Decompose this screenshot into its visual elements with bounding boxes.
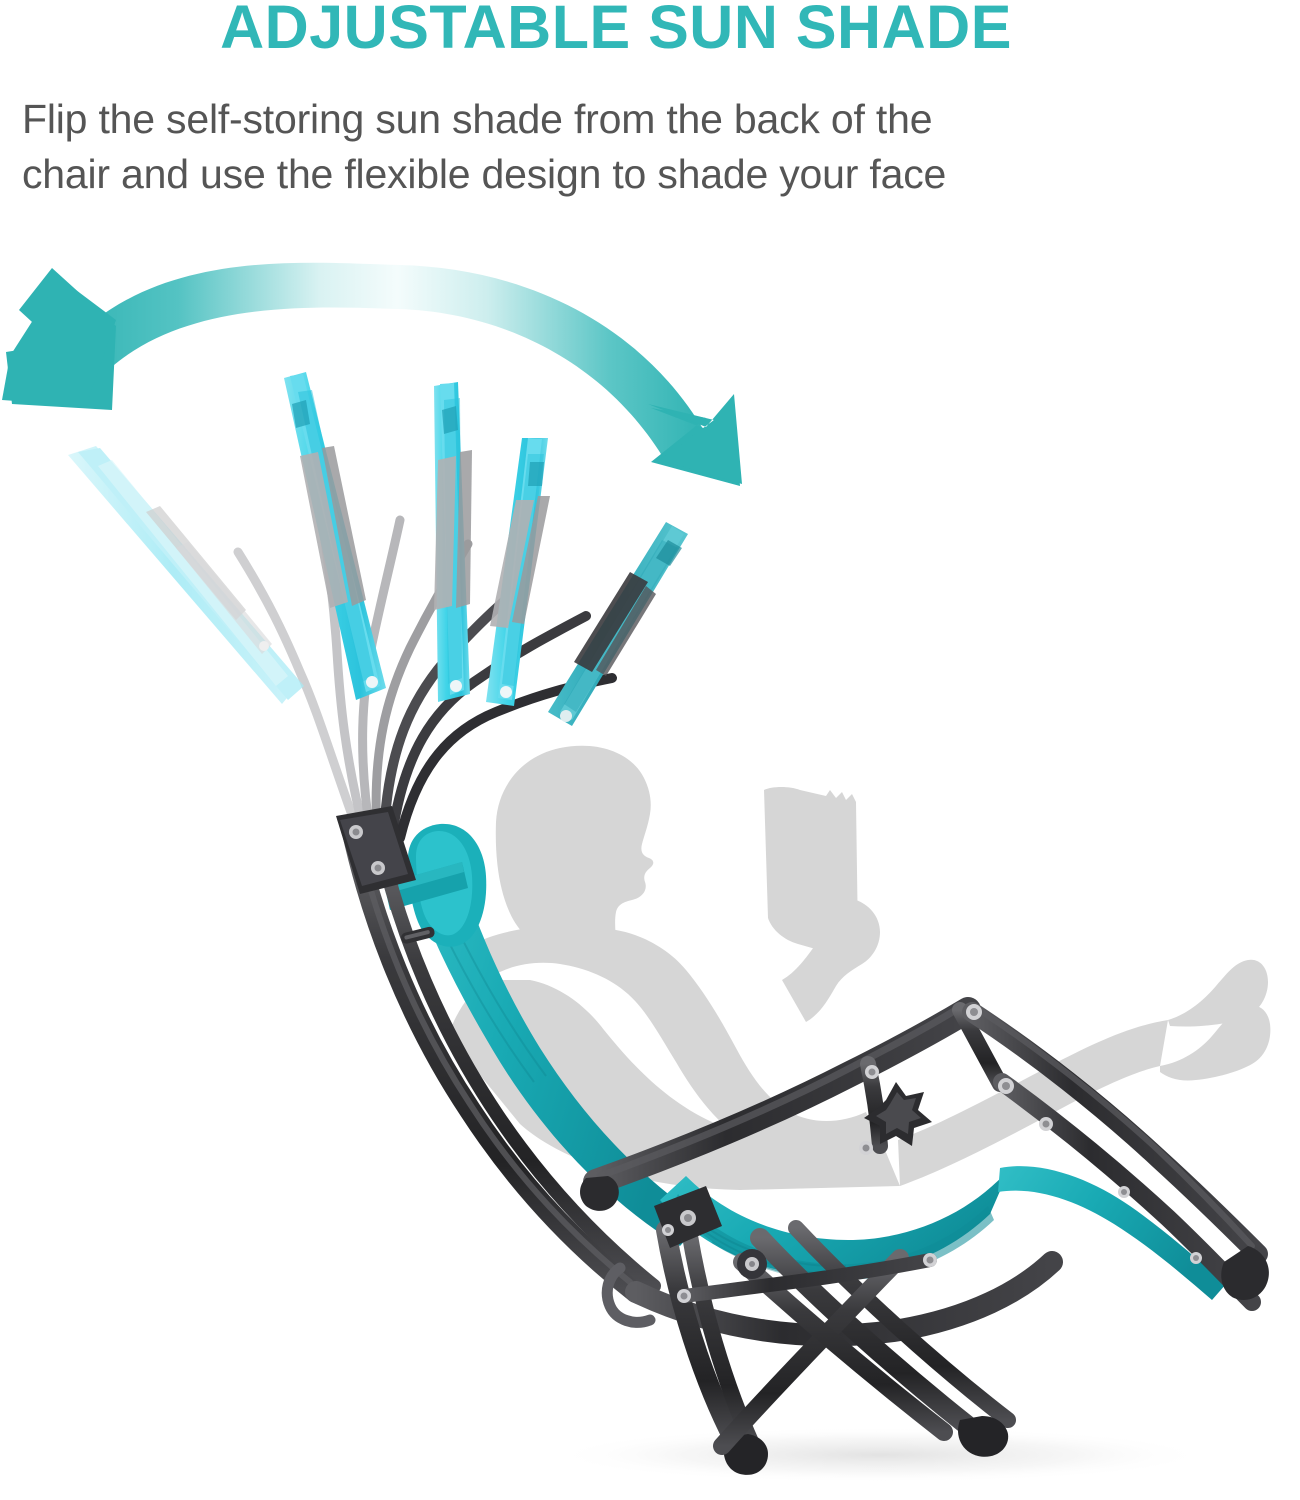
- floor-shadow: [550, 1427, 1210, 1483]
- leg-pivot-hinge[interactable]: [737, 1249, 767, 1279]
- double-headed-curved-arrow: [2, 263, 742, 486]
- shade-position-1[interactable]: [68, 446, 304, 704]
- product-infographic: ADJUSTABLE SUN SHADE Flip the self-stori…: [0, 0, 1300, 1500]
- product-illustration: [0, 0, 1300, 1500]
- shade-position-4[interactable]: [486, 438, 550, 706]
- illustration-svg: [0, 0, 1300, 1500]
- shade-position-3[interactable]: [434, 382, 472, 702]
- silhouette-head-with-hair: [496, 746, 654, 952]
